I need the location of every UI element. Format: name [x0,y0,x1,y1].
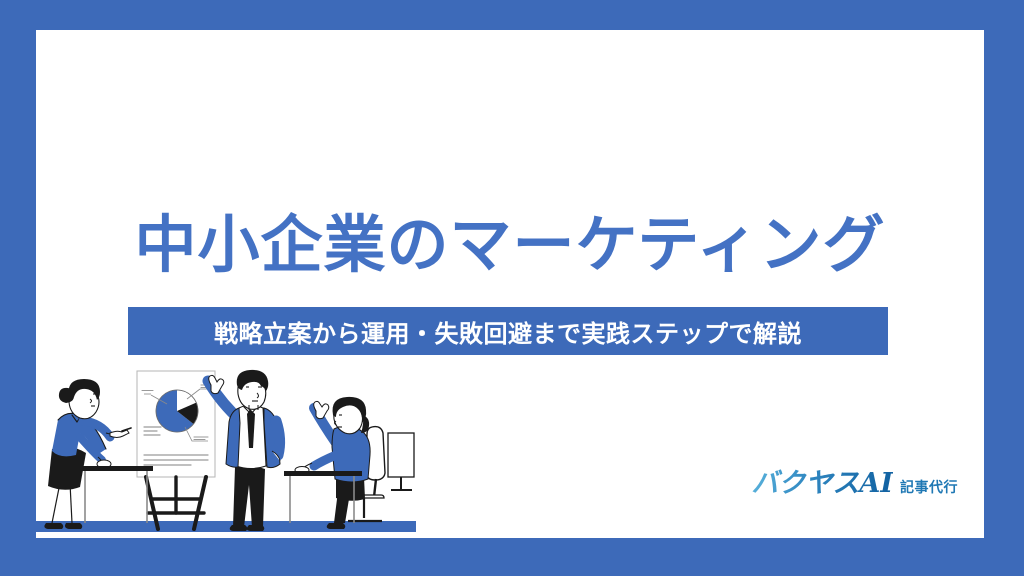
title-block: 中小企業のマーケティング [36,212,984,279]
subtitle-text: 戦略立案から運用・失敗回避まで実践ステップで解説 [214,314,802,349]
person-seated-hand-raised [295,397,385,529]
brand-name: バクヤスAI [751,461,893,500]
ground-strip [36,521,416,532]
woman-pointing-at-desk [44,379,131,529]
brand-logo: バクヤスAI 記事代行 [751,461,958,500]
page-title: 中小企業のマーケティング [36,212,984,279]
subtitle-banner: 戦略立案から運用・失敗回避まで実践ステップで解説 [128,307,888,355]
pie-chart [156,390,198,432]
slide-content-area: 中小企業のマーケティング 戦略立案から運用・失敗回避まで実践ステップで解説 バク… [36,30,984,538]
business-meeting-illustration: .ink { fill:#1a1a1a; } .blue { fill:#3d6… [36,363,416,538]
slide-frame: 中小企業のマーケティング 戦略立案から運用・失敗回避まで実践ステップで解説 バク… [0,0,1024,576]
illustration-svg: .ink { fill:#1a1a1a; } .blue { fill:#3d6… [36,363,416,538]
brand-service-label: 記事代行 [900,477,958,497]
monitor-edge [388,433,414,490]
flip-chart-easel [137,371,215,529]
man-standing-hand-raised [208,370,280,531]
